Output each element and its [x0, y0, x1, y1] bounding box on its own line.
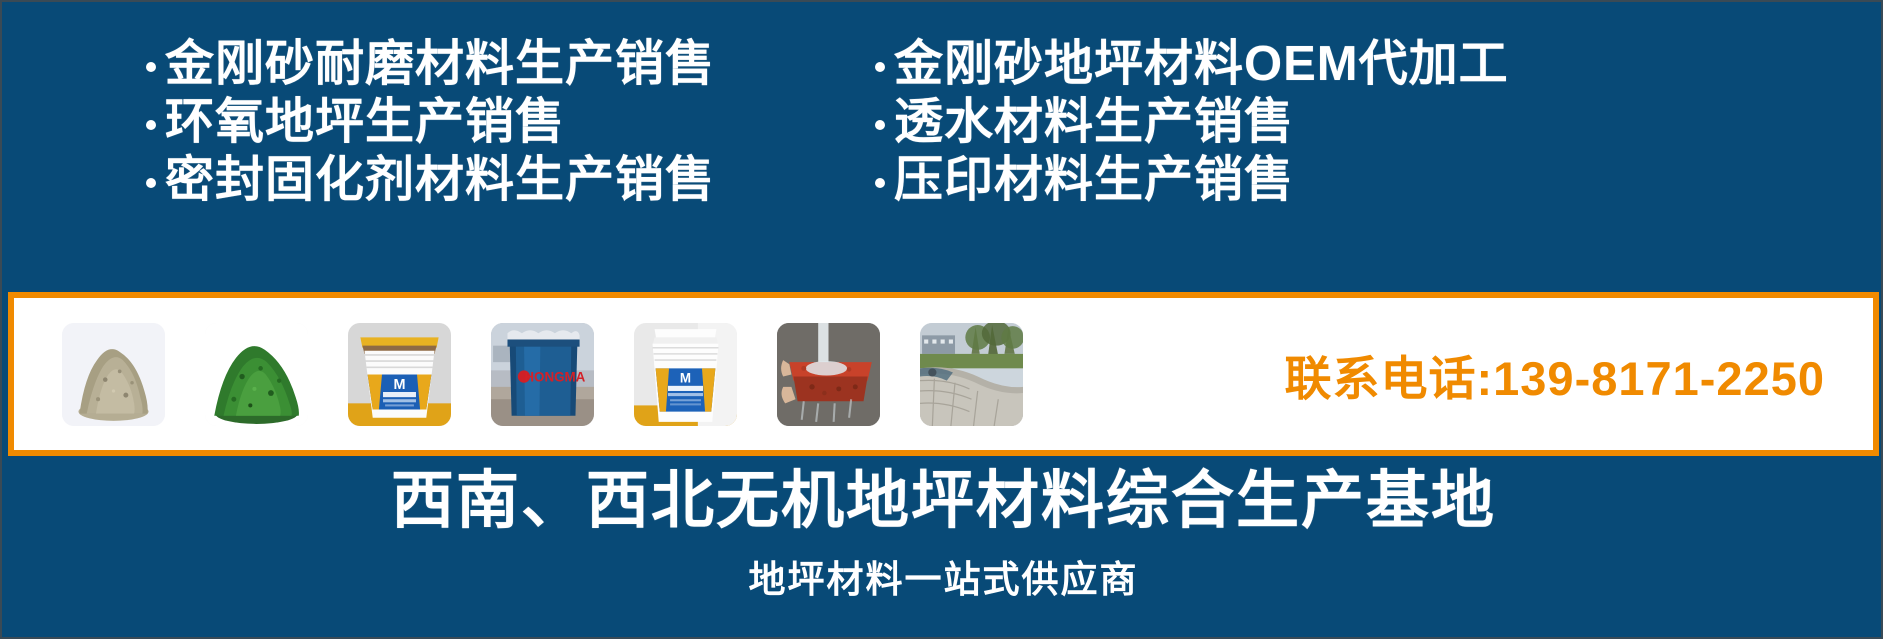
product-thumbnail-epoxy-coating-pail: M [634, 323, 737, 426]
bullet-dot-icon [875, 120, 885, 130]
service-bullet-label: 密封固化剂材料生产销售 [165, 152, 715, 210]
product-thumbnail-green-aggregate [205, 323, 308, 426]
contact-phone-label[interactable]: 联系电话:139-8171-2250 [1285, 340, 1826, 409]
service-bullet-column-left: 金刚砂耐磨材料生产销售 环氧地坪生产销售 密封固化剂材料生产销售 [2, 36, 857, 209]
pail-epoxy-icon: M [634, 323, 737, 426]
svg-text:M: M [680, 370, 691, 385]
product-thumbnail-gallery: M [14, 298, 1023, 450]
bottom-headline-block: 西南、西北无机地坪材料综合生产基地 地坪材料一站式供应商 [2, 456, 1883, 639]
stamped-path-icon [920, 323, 1023, 426]
service-bullet-label: 透水材料生产销售 [894, 94, 1294, 152]
product-thumbnail-concrete-sealer-pail: M [348, 323, 451, 426]
pail-white-icon: M [348, 323, 451, 426]
drum-blue-icon: HONGMA [491, 323, 594, 426]
product-thumbnail-hongma-drum: HONGMA [491, 323, 594, 426]
contact-phone-block[interactable]: 联系电话:139-8171-2250 [1285, 340, 1874, 409]
powder-green-icon [205, 323, 308, 426]
powder-grey-icon [62, 323, 165, 426]
service-bullet-item: 压印材料生产销售 [875, 152, 1883, 210]
service-bullet-lists: 金刚砂耐磨材料生产销售 环氧地坪生产销售 密封固化剂材料生产销售 金刚砂地坪材料… [2, 2, 1883, 290]
service-bullet-label: 金刚砂耐磨材料生产销售 [165, 36, 715, 94]
svg-text:HONGMA: HONGMA [524, 369, 585, 384]
service-bullet-item: 金刚砂耐磨材料生产销售 [146, 36, 857, 94]
service-bullet-label: 压印材料生产销售 [894, 152, 1294, 210]
sub-headline: 地坪材料一站式供应商 [749, 549, 1139, 603]
product-thumbnail-permeable-sample [777, 323, 880, 426]
bullet-dot-icon [146, 178, 156, 188]
service-bullet-item: 密封固化剂材料生产销售 [146, 152, 857, 210]
service-bullet-item: 环氧地坪生产销售 [146, 94, 857, 152]
bullet-dot-icon [146, 62, 156, 72]
service-bullet-label: 金刚砂地坪材料OEM代加工 [894, 36, 1509, 94]
svg-text:M: M [393, 376, 405, 392]
bullet-dot-icon [146, 120, 156, 130]
bullet-dot-icon [875, 62, 885, 72]
product-thumbnail-stamped-pathway [920, 323, 1023, 426]
service-bullet-item: 透水材料生产销售 [875, 94, 1883, 152]
permeable-sample-icon [777, 323, 880, 426]
promotional-banner: 金刚砂耐磨材料生产销售 环氧地坪生产销售 密封固化剂材料生产销售 金刚砂地坪材料… [0, 0, 1883, 639]
service-bullet-item: 金刚砂地坪材料OEM代加工 [875, 36, 1883, 94]
main-headline: 西南、西北无机地坪材料综合生产基地 [391, 464, 1496, 538]
service-bullet-column-right: 金刚砂地坪材料OEM代加工 透水材料生产销售 压印材料生产销售 [857, 36, 1883, 209]
service-bullet-label: 环氧地坪生产销售 [165, 94, 565, 152]
product-thumbnail-grey-aggregate [62, 323, 165, 426]
bullet-dot-icon [875, 178, 885, 188]
product-showcase-strip: M [8, 292, 1879, 456]
